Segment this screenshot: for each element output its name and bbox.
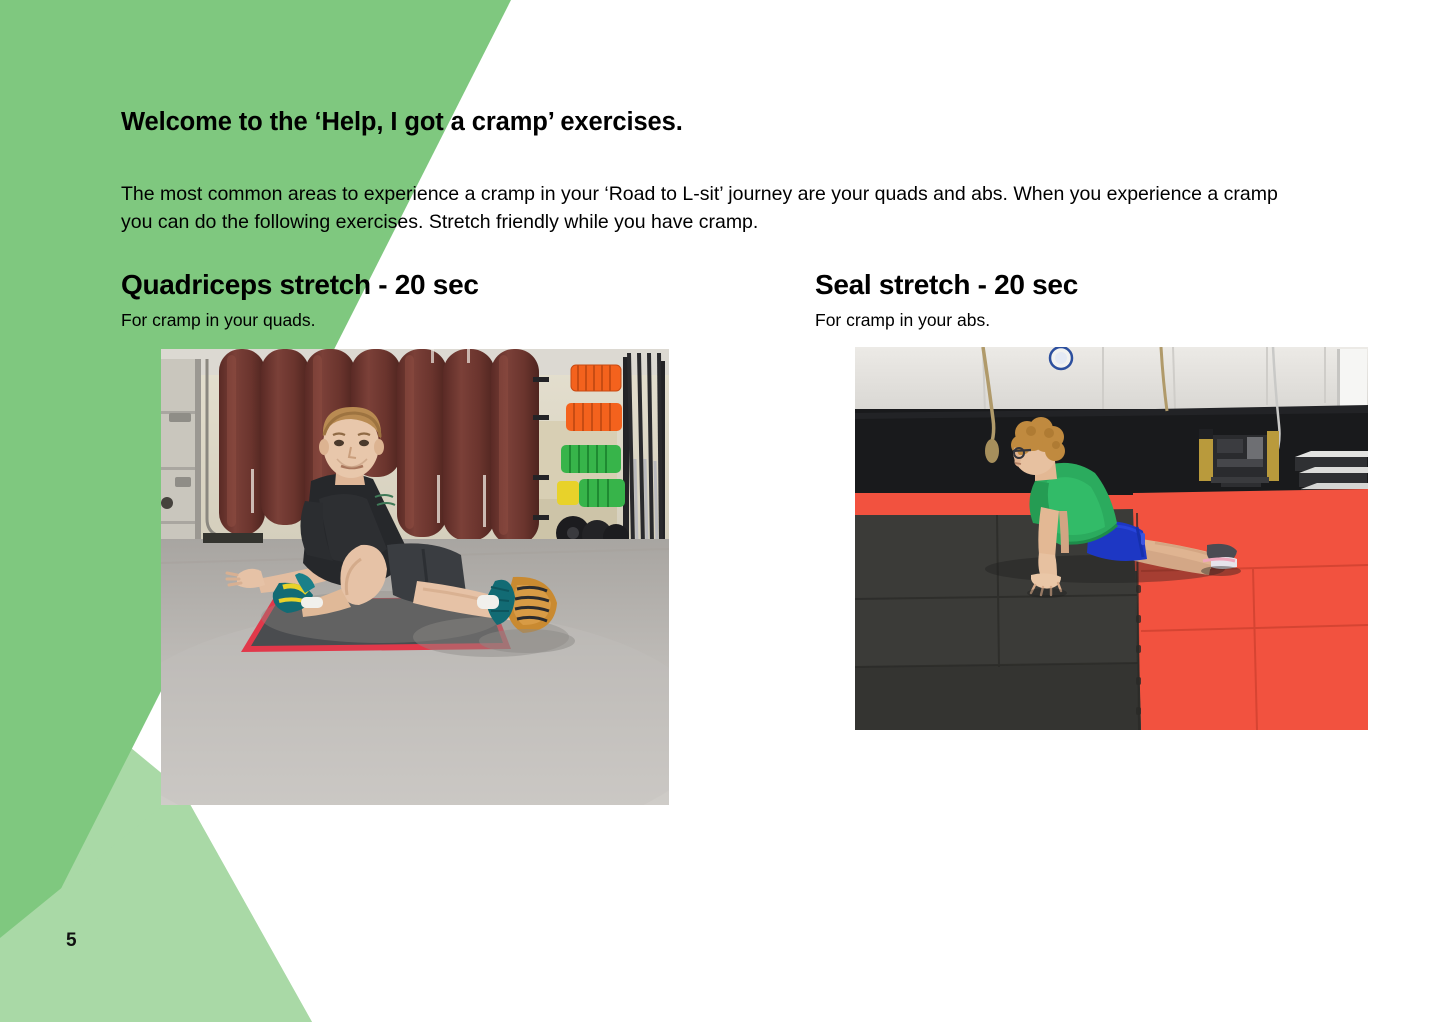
exercise-subtitle: For cramp in your quads. [121, 301, 721, 332]
header-block: Welcome to the ‘Help, I got a cramp’ exe… [121, 108, 1296, 237]
page-canvas: Welcome to the ‘Help, I got a cramp’ exe… [0, 0, 1445, 1022]
exercise-photo-seal-stretch [855, 347, 1368, 730]
intro-paragraph: The most common areas to experience a cr… [121, 137, 1289, 236]
exercise-card-seal-stretch: Seal stretch - 20 sec For cramp in your … [815, 270, 1415, 746]
exercise-list: Quadriceps stretch - 20 sec For cramp in… [0, 270, 1445, 830]
page-title: Welcome to the ‘Help, I got a cramp’ exe… [121, 108, 1296, 137]
exercise-photo-quadriceps-stretch [161, 349, 669, 805]
page-number: 5 [66, 930, 77, 952]
exercise-card-quadriceps-stretch: Quadriceps stretch - 20 sec For cramp in… [121, 270, 721, 821]
exercise-title: Quadriceps stretch - 20 sec [121, 270, 721, 301]
exercise-title: Seal stretch - 20 sec [815, 270, 1415, 301]
exercise-subtitle: For cramp in your abs. [815, 301, 1415, 332]
